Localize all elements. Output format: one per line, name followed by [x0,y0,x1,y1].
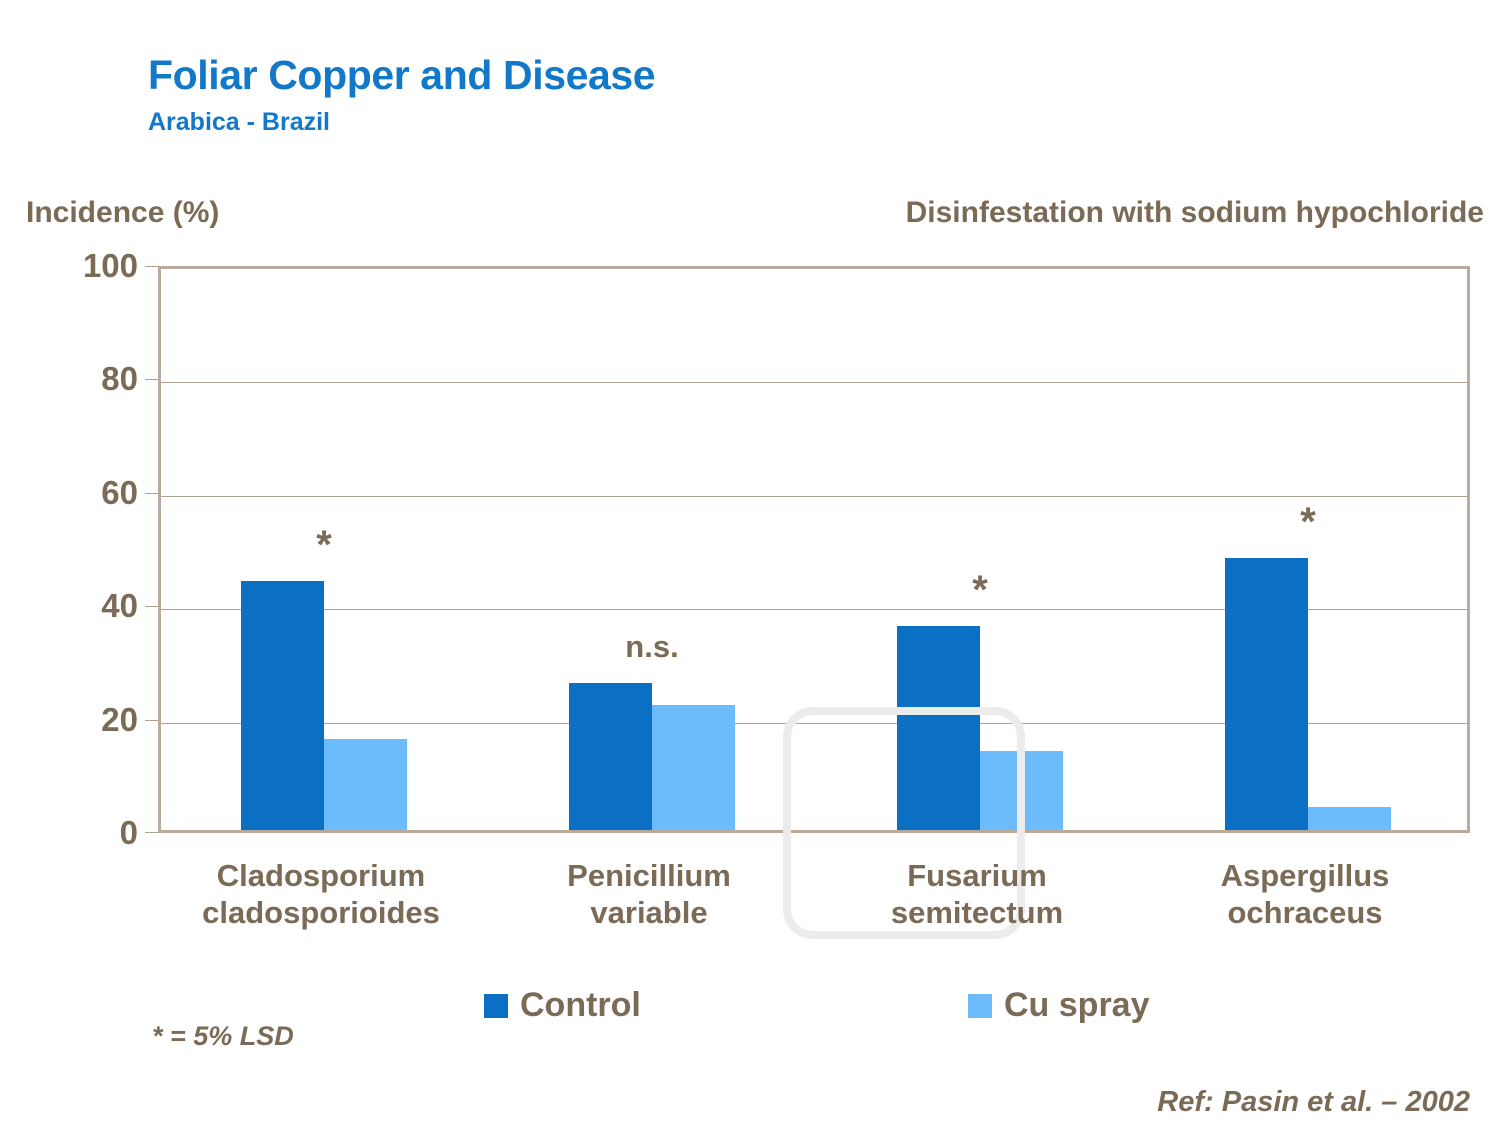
significance-label: n.s. [625,631,678,662]
y-tick-label: 40 [101,587,138,625]
bar-control [897,626,980,830]
legend-swatch-icon [484,994,508,1018]
x-category-label-line: ochraceus [1221,895,1390,932]
y-tick-mark [145,832,158,833]
x-category-label-line: semitectum [891,895,1063,932]
reference-footnote: Ref: Pasin et al. – 2002 [1157,1086,1470,1119]
x-category-label: Aspergillusochraceus [1221,858,1390,931]
y-tick-mark [145,720,158,721]
bar-control [569,683,652,830]
y-axis-tick-marks [145,266,158,833]
legend-label: Cu spray [1004,986,1150,1025]
gridline [161,382,1467,383]
y-tick-label: 0 [120,814,138,852]
y-tick-label: 20 [101,701,138,739]
x-category-label-line: variable [567,895,731,932]
bar-cu-spray [1308,807,1391,830]
plot-area: *n.s.** YARA [158,266,1470,833]
legend-item-cu-spray[interactable]: Cu spray [968,986,1150,1025]
bar-control [241,581,324,830]
gridline [161,496,1467,497]
y-tick-mark [145,606,158,607]
y-tick-mark [145,266,158,267]
bar-cu-spray [980,751,1063,830]
lsd-footnote: * = 5% LSD [152,1021,294,1052]
page-subtitle: Arabica - Brazil [148,108,330,137]
significance-label: * [972,570,988,610]
chart-annotation-header: Disinfestation with sodium hypochloride [906,196,1484,230]
x-category-label: Penicilliumvariable [567,858,731,931]
significance-label: * [1300,502,1316,542]
significance-label: * [316,525,332,565]
y-tick-mark [145,493,158,494]
y-tick-mark [145,379,158,380]
x-category-label-line: Penicillium [567,858,731,895]
y-axis-title: Incidence (%) [26,196,219,230]
slide: Foliar Copper and Disease Arabica - Braz… [0,0,1500,1126]
x-category-label-line: Fusarium [891,858,1063,895]
x-category-label-line: cladosporioides [202,895,440,932]
x-category-label: Cladosporiumcladosporioides [202,858,440,931]
bar-cu-spray [652,705,735,830]
bar-control [1225,558,1308,830]
legend-swatch-icon [968,994,992,1018]
page-title: Foliar Copper and Disease [148,52,655,99]
x-category-label-line: Aspergillus [1221,858,1390,895]
y-axis-tick-labels: 020406080100 [60,266,138,833]
x-category-label: Fusariumsemitectum [891,858,1063,931]
legend-item-control[interactable]: Control [484,986,641,1025]
legend-label: Control [520,986,641,1025]
y-tick-label: 80 [101,360,138,398]
bar-cu-spray [324,739,407,830]
y-tick-label: 60 [101,474,138,512]
x-category-label-line: Cladosporium [202,858,440,895]
y-tick-label: 100 [83,247,138,285]
